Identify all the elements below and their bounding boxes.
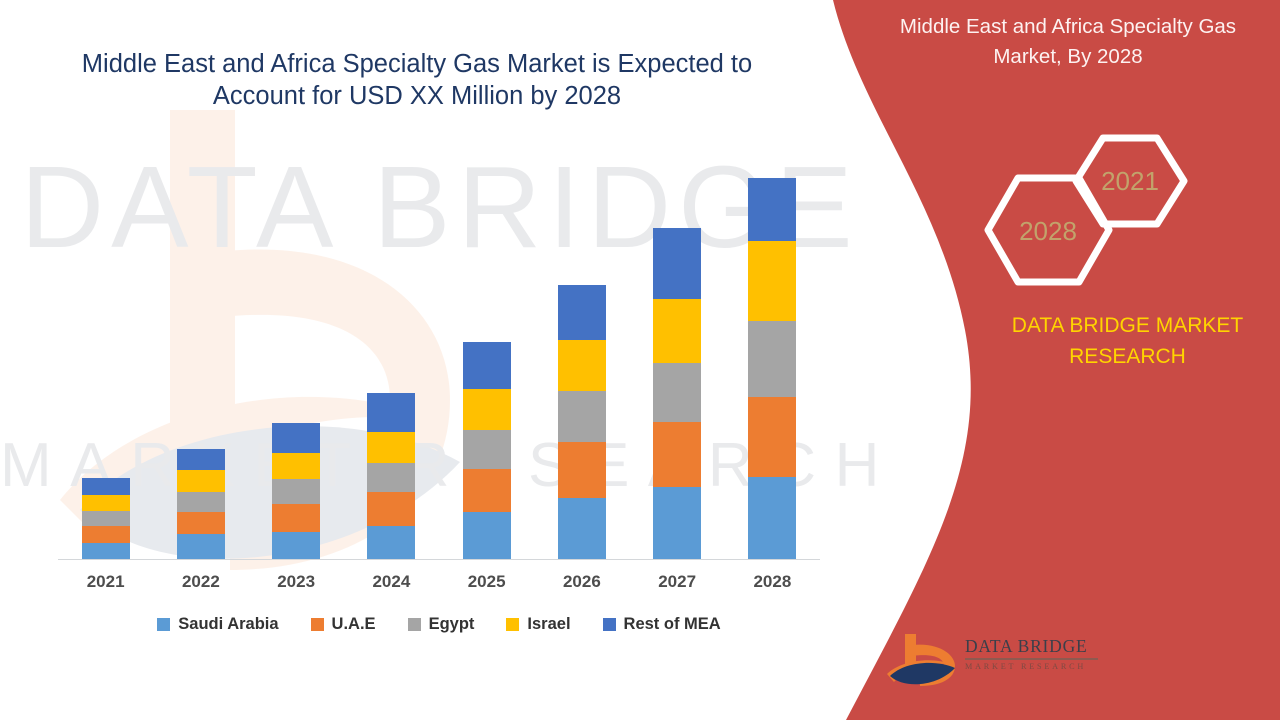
legend-label: U.A.E (332, 615, 376, 634)
bar-segment (367, 463, 415, 492)
bar-slot (630, 150, 725, 559)
stacked-bar (558, 285, 606, 559)
bar-segment (653, 228, 701, 300)
legend-item[interactable]: U.A.E (311, 615, 376, 634)
bar-segment (272, 504, 320, 533)
stacked-bar (177, 449, 225, 559)
brand-line-2: RESEARCH (985, 341, 1270, 372)
x-axis-label: 2028 (725, 572, 820, 592)
bar-segment (653, 487, 701, 559)
legend-item[interactable]: Saudi Arabia (157, 615, 278, 634)
bar-segment (177, 512, 225, 534)
stacked-bar (463, 342, 511, 559)
legend-item[interactable]: Egypt (408, 615, 475, 634)
x-axis-label: 2022 (153, 572, 248, 592)
legend-item[interactable]: Rest of MEA (603, 615, 721, 634)
bar-segment (653, 422, 701, 487)
x-axis-labels: 20212022202320242025202620272028 (58, 572, 820, 592)
x-axis-label: 2025 (439, 572, 534, 592)
stacked-bar (748, 178, 796, 559)
bar-segment (367, 492, 415, 527)
bar-slot (249, 150, 344, 559)
bar-segment (272, 453, 320, 480)
bar-segment (82, 526, 130, 542)
bar-slot (344, 150, 439, 559)
hexagon-large-2028: 2028 (988, 178, 1109, 282)
bar-segment (463, 430, 511, 469)
stacked-bar (272, 423, 320, 559)
bar-segment (177, 449, 225, 470)
hexagon-large-label: 2028 (1019, 216, 1077, 246)
bar-segment (272, 423, 320, 453)
logo-text: DATA BRIDGE MARKET RESEARCH (965, 636, 1100, 671)
bar-segment (748, 178, 796, 241)
legend-swatch-icon (311, 618, 324, 631)
legend-label: Saudi Arabia (178, 615, 278, 634)
panel-title: Middle East and Africa Specialty Gas Mar… (868, 12, 1268, 72)
stacked-bar (367, 393, 415, 559)
x-axis-label: 2026 (534, 572, 629, 592)
legend-label: Rest of MEA (624, 615, 721, 634)
bar-segment (82, 543, 130, 559)
legend-label: Egypt (429, 615, 475, 634)
bar-segment (748, 397, 796, 477)
legend-swatch-icon (506, 618, 519, 631)
legend-item[interactable]: Israel (506, 615, 570, 634)
bar-segment (367, 393, 415, 432)
logo-divider (965, 658, 1098, 660)
bar-segment (748, 321, 796, 398)
bar-slot (534, 150, 629, 559)
bar-segment (177, 470, 225, 491)
bar-segment (82, 495, 130, 511)
bar-segment (177, 492, 225, 512)
stacked-bar-chart (58, 150, 820, 560)
hexagon-group: 2021 2028 (975, 128, 1195, 293)
brand-line-1: DATA BRIDGE MARKET (985, 310, 1270, 341)
bar-segment (463, 469, 511, 512)
bar-slot (153, 150, 248, 559)
bar-segment (367, 432, 415, 463)
slide-title: Middle East and Africa Specialty Gas Mar… (58, 48, 776, 112)
x-axis-label: 2021 (58, 572, 153, 592)
stacked-bar (82, 478, 130, 559)
brand-name: DATA BRIDGE MARKET RESEARCH (985, 310, 1270, 372)
hexagon-small-2021: 2021 (1076, 138, 1184, 224)
bar-segment (82, 478, 130, 494)
bar-slot (439, 150, 534, 559)
bar-segment (748, 477, 796, 559)
bar-segment (558, 442, 606, 497)
bar-segment (748, 241, 796, 321)
x-axis-line (58, 559, 820, 560)
company-logo: DATA BRIDGE MARKET RESEARCH (885, 630, 1100, 692)
bar-segment (558, 391, 606, 442)
bar-segment (558, 498, 606, 559)
logo-primary-text: DATA BRIDGE (965, 636, 1100, 657)
bar-segment (82, 511, 130, 526)
legend-swatch-icon (157, 618, 170, 631)
bar-segment (463, 342, 511, 389)
x-axis-label: 2024 (344, 572, 439, 592)
bar-segment (463, 389, 511, 430)
chart-legend: Saudi ArabiaU.A.EEgyptIsraelRest of MEA (58, 615, 820, 634)
bar-segment (272, 479, 320, 504)
hexagon-small-label: 2021 (1101, 166, 1159, 196)
legend-label: Israel (527, 615, 570, 634)
chart-bars (58, 150, 820, 559)
x-axis-label: 2023 (249, 572, 344, 592)
x-axis-label: 2027 (630, 572, 725, 592)
bar-segment (558, 285, 606, 340)
slide-canvas: DATA BRIDGE MARKET RESEARCH Middle East … (0, 0, 1280, 720)
bar-segment (272, 532, 320, 559)
bar-segment (653, 299, 701, 362)
bar-segment (558, 340, 606, 391)
legend-swatch-icon (408, 618, 421, 631)
bar-segment (653, 363, 701, 422)
bar-segment (463, 512, 511, 559)
bar-segment (177, 534, 225, 559)
stacked-bar (653, 228, 701, 559)
bar-slot (725, 150, 820, 559)
logo-secondary-text: MARKET RESEARCH (965, 662, 1100, 671)
bar-segment (367, 526, 415, 559)
bar-slot (58, 150, 153, 559)
legend-swatch-icon (603, 618, 616, 631)
logo-mark-icon (885, 630, 963, 690)
